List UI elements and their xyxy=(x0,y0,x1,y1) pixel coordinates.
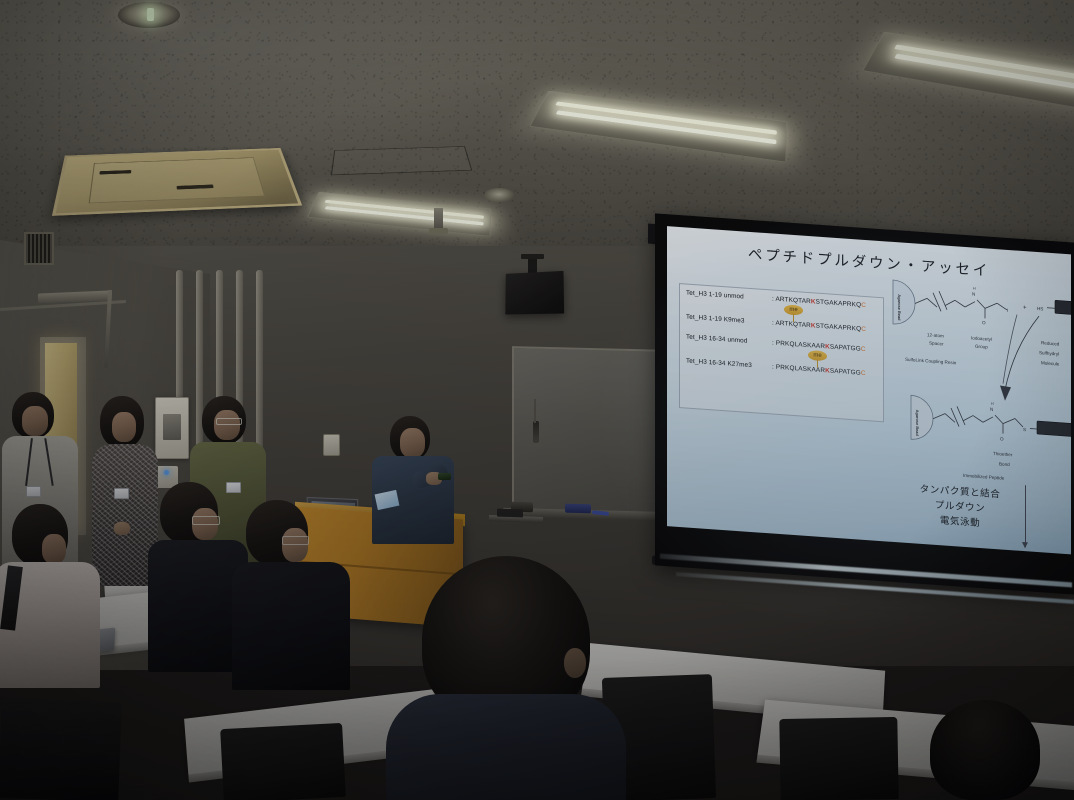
name-badge xyxy=(26,486,41,497)
n-atom-label: N xyxy=(972,291,975,296)
presenter xyxy=(372,416,454,540)
cysteine-residue: C xyxy=(861,370,866,377)
plus-sign: + xyxy=(1023,305,1027,311)
face xyxy=(400,428,425,458)
n-atom-label-bottom: N xyxy=(990,407,993,412)
chemistry-reaction-diagram: Agarose Bead N H O xyxy=(889,276,1071,489)
presentation-slide: ペプチドプルダウン・アッセイ Tet_H3 1-19 unmod : ARTKQ… xyxy=(667,226,1071,554)
wall-control-panel[interactable] xyxy=(155,397,189,459)
thioether-label: Thioether xyxy=(993,451,1013,457)
o-atom-label: O xyxy=(982,320,986,325)
reaction-arrowhead xyxy=(1000,385,1011,401)
sprinkler-head xyxy=(434,208,443,230)
spacer-label: 12-atom xyxy=(927,332,944,338)
peptide-sequence-box: Tet_H3 1-19 unmod : ARTKQTARKSTGAKAPRKQC… xyxy=(679,283,884,422)
projection-screen: ペプチドプルダウン・アッセイ Tet_H3 1-19 unmod : ARTKQ… xyxy=(655,213,1074,594)
seated-attendee xyxy=(232,500,350,690)
molecule-label: Molecule xyxy=(1041,360,1060,366)
wall-vent-grille xyxy=(24,232,54,265)
glasses-icon xyxy=(192,516,220,525)
head xyxy=(930,700,1040,800)
conclusion-text: 精製したクロモドメイン の結合特異性を調べる xyxy=(905,543,1071,555)
face xyxy=(282,528,308,562)
iodoacetyl-label-2: Group xyxy=(975,344,988,350)
whiteboard-magnet-clip xyxy=(533,421,539,443)
cysteine-residue: C xyxy=(861,326,866,333)
iodoacetyl-label: Iodoacetyl xyxy=(971,335,992,341)
ac-grille xyxy=(89,157,265,203)
methyl-tag-stem xyxy=(793,314,794,322)
control-panel-display xyxy=(163,414,181,440)
methyl-tag-stem xyxy=(817,360,818,368)
foreground-attendee-right xyxy=(900,700,1074,800)
name-badge xyxy=(114,488,129,499)
whiteboard-eraser-blue[interactable] xyxy=(565,504,591,514)
conclusion-line-1: 精製したクロモドメイン xyxy=(905,543,1071,555)
workflow-steps: タンパク質と結合 プルダウン 電気泳動 xyxy=(895,480,1025,534)
classroom-chair xyxy=(220,723,346,800)
ear xyxy=(564,648,586,678)
shelf-item xyxy=(497,509,523,518)
slide-title: ペプチドプルダウン・アッセイ xyxy=(675,238,1063,286)
o-atom-label-bottom: O xyxy=(1000,436,1004,441)
slide-surface: ペプチドプルダウン・アッセイ Tet_H3 1-19 unmod : ARTKQ… xyxy=(667,226,1071,554)
face xyxy=(42,534,66,564)
torso xyxy=(232,562,350,690)
glasses-icon xyxy=(216,418,242,425)
agarose-bead-icon xyxy=(893,280,915,326)
bead-label-bottom: Agarose Bead xyxy=(915,409,920,436)
immobilized-peptide-label: Immobilized Peptide xyxy=(963,473,1005,481)
torso xyxy=(386,694,626,800)
i-atom-label: I xyxy=(1007,308,1008,313)
presentation-remote[interactable] xyxy=(438,473,451,480)
hs-label: HS xyxy=(1037,306,1043,311)
spacer-label-2: Spacer xyxy=(929,340,944,346)
hands xyxy=(114,522,130,535)
status-led-icon xyxy=(164,470,169,475)
recessed-downlight xyxy=(118,2,180,28)
ceiling-air-conditioner xyxy=(52,148,302,216)
s-atom-label: S xyxy=(1023,427,1026,432)
h-atom-label-bottom: H xyxy=(991,402,994,406)
face xyxy=(112,412,136,442)
bead-label-top: Agarose Bead xyxy=(897,294,902,321)
h-atom-label: H xyxy=(973,287,976,291)
thioether-label-2: Bond xyxy=(999,461,1010,467)
face xyxy=(214,410,240,440)
face xyxy=(22,406,48,436)
resin-label: SulfoLink Coupling Resin xyxy=(905,357,957,366)
sulfhydryl-label: Sulfhydryl xyxy=(1039,350,1059,356)
agarose-bead-icon-bottom xyxy=(911,395,933,441)
lecture-room-photo: ペプチドプルダウン・アッセイ Tet_H3 1-19 unmod : ARTKQ… xyxy=(0,0,1074,800)
workflow-arrow-icon xyxy=(1025,485,1026,547)
peptide-label-bottom: Peptide xyxy=(1045,427,1064,434)
light-switch[interactable] xyxy=(323,434,340,456)
classroom-chair xyxy=(779,717,898,800)
glasses-icon xyxy=(282,536,309,545)
reduced-label: Reduced xyxy=(1041,340,1060,346)
classroom-chair xyxy=(0,698,122,800)
foreground-attendee xyxy=(386,556,626,800)
seated-attendee xyxy=(0,504,102,684)
recessed-downlight-secondary xyxy=(484,188,514,202)
ceiling-access-panel xyxy=(331,146,472,175)
ceiling-speaker xyxy=(505,271,564,315)
